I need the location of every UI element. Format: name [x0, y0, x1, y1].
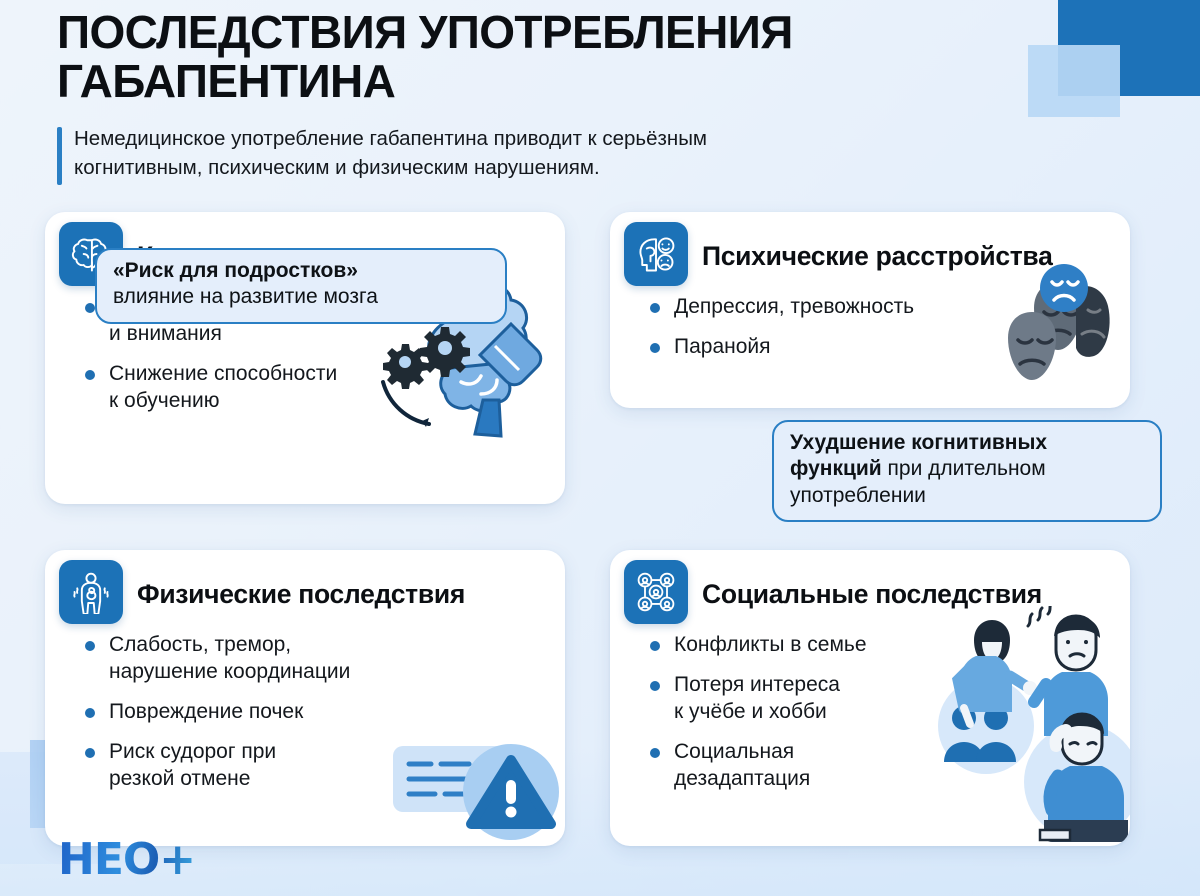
subtitle-accent-bar: [57, 127, 62, 185]
card-mental[interactable]: Психические расстройства Депрессия, трев…: [610, 212, 1130, 408]
subtitle-block: Немедицинское употребление габапентина п…: [57, 124, 1057, 182]
list-item: Слабость, тремор, нарушение координации: [83, 632, 545, 686]
list-item: Риск судорог при резкой отмене: [83, 739, 545, 793]
list-item: Социальная дезадаптация: [648, 739, 1110, 793]
card-title: Социальные последствия: [702, 580, 1042, 609]
callout-teens-rest: влияние на развитие мозга: [113, 285, 378, 308]
page-header: ПОСЛЕДСТВИЯ УПОТРЕБЛЕНИЯ ГАБАПЕНТИНА Нем…: [57, 8, 1057, 182]
list-item: Конфликты в семье: [648, 632, 1110, 659]
head-emotions-icon: [624, 222, 688, 286]
page-subtitle: Немедицинское употребление габапентина п…: [74, 124, 1057, 182]
card-header: Психические расстройства: [632, 228, 1110, 286]
brand-logo[interactable]: НЕО+: [58, 838, 195, 882]
card-social[interactable]: Социальные последствия Конфликты в семье…: [610, 550, 1130, 846]
list-item: Снижение способности к обучению: [83, 361, 545, 415]
card-title: Физические последствия: [137, 580, 465, 609]
card-header: Социальные последствия: [632, 566, 1110, 624]
card-bullet-list: Конфликты в семье Потеря интереса к учёб…: [648, 632, 1110, 792]
people-network-icon: [624, 560, 688, 624]
list-item: Потеря интереса к учёбе и хобби: [648, 672, 1110, 726]
callout-teens: «Риск для подростков» влияние на развити…: [95, 248, 507, 324]
card-header: Физические последствия: [67, 566, 545, 624]
body-organs-icon: [59, 560, 123, 624]
list-item: Паранойя: [648, 334, 1110, 361]
card-physical[interactable]: Физические последствия Слабость, тремор,…: [45, 550, 565, 846]
list-item: Депрессия, тревожность: [648, 294, 1110, 321]
column-right: Психические расстройства Депрессия, трев…: [610, 212, 1130, 846]
card-bullet-list: Депрессия, тревожность Паранойя: [648, 294, 1110, 361]
callout-teens-strong: «Риск для подростков»: [113, 259, 358, 282]
callout-long-term: Ухудшение когнитивных функций при длител…: [772, 420, 1162, 522]
card-title: Психические расстройства: [702, 242, 1053, 271]
card-bullet-list: Слабость, тремор, нарушение координации …: [83, 632, 545, 792]
page-title: ПОСЛЕДСТВИЯ УПОТРЕБЛЕНИЯ ГАБАПЕНТИНА: [57, 8, 1057, 106]
list-item: Повреждение почек: [83, 699, 545, 726]
